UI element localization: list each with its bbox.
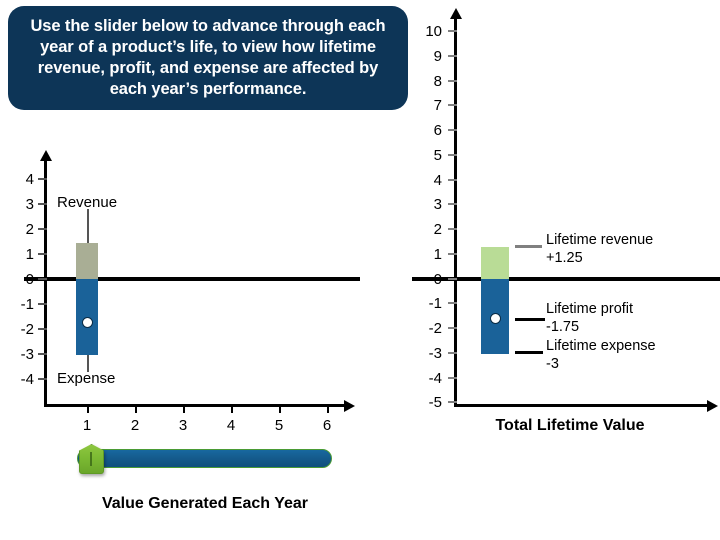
y-tick-right xyxy=(448,228,457,230)
y-tick-label-right: 7 xyxy=(408,98,442,113)
y-tick-label-left: -3 xyxy=(8,347,34,362)
lifetime-expense-leader-line xyxy=(515,351,543,354)
y-tick-label-right: 8 xyxy=(408,74,442,89)
y-tick-label-left: 1 xyxy=(8,247,34,262)
revenue-label-left: Revenue xyxy=(57,194,117,211)
y-tick-label-right: -4 xyxy=(408,371,442,386)
y-tick-right xyxy=(448,55,457,57)
x-tick-label-left: 5 xyxy=(265,418,293,433)
y-tick-right xyxy=(448,278,457,280)
left-chart-caption: Value Generated Each Year xyxy=(60,495,350,513)
y-tick-label-left: -1 xyxy=(8,297,34,312)
x-tick-label-left: 2 xyxy=(121,418,149,433)
y-tick-left xyxy=(38,278,47,280)
y-tick-left xyxy=(38,378,47,380)
lifetime-revenue-annotation-title: Lifetime revenue xyxy=(546,232,653,250)
x-tick-left xyxy=(87,404,89,413)
y-tick-right xyxy=(448,377,457,379)
y-tick-right xyxy=(448,401,457,403)
y-tick-left xyxy=(38,328,47,330)
year-slider[interactable] xyxy=(77,447,332,471)
y-tick-label-left: 2 xyxy=(8,222,34,237)
x-tick-label-left: 3 xyxy=(169,418,197,433)
y-tick-label-left: 0 xyxy=(8,272,34,287)
slider-track[interactable] xyxy=(77,449,332,468)
lifetime-revenue-bar xyxy=(481,247,509,279)
y-axis-right xyxy=(454,18,457,407)
x-tick-left xyxy=(231,404,233,413)
y-tick-label-right: 0 xyxy=(408,272,442,287)
y-tick-right xyxy=(448,104,457,106)
lifetime-expense-annotation-title: Lifetime expense xyxy=(546,338,656,356)
y-tick-label-right: 4 xyxy=(408,173,442,188)
x-tick-label-left: 1 xyxy=(73,418,101,433)
y-tick-left xyxy=(38,303,47,305)
y-tick-left xyxy=(38,203,47,205)
y-tick-label-right: 2 xyxy=(408,222,442,237)
y-tick-label-right: 10 xyxy=(408,24,442,39)
y-tick-left xyxy=(38,178,47,180)
x-axis-arrow-left xyxy=(344,400,355,412)
y-tick-right xyxy=(448,154,457,156)
lifetime-profit-annotation-title: Lifetime profit xyxy=(546,301,633,319)
x-tick-left xyxy=(327,404,329,413)
y-tick-label-right: -5 xyxy=(408,395,442,410)
x-axis-left xyxy=(44,404,344,407)
y-tick-right xyxy=(448,327,457,329)
revenue-bar-left xyxy=(76,243,98,279)
zero-line-left xyxy=(24,277,360,281)
zero-line-right xyxy=(412,277,720,281)
x-tick-label-left: 6 xyxy=(313,418,341,433)
lifetime-profit-marker xyxy=(490,313,501,324)
y-tick-label-right: 6 xyxy=(408,123,442,138)
y-tick-label-right: -2 xyxy=(408,321,442,336)
lifetime-revenue-annotation: Lifetime revenue +1.25 xyxy=(546,232,653,267)
lifetime-profit-annotation-value: -1.75 xyxy=(546,319,633,337)
total-lifetime-value-chart: 10 9 8 7 6 5 4 3 2 1 0 -1 -2 -3 -4 -5 Li… xyxy=(400,0,720,440)
y-tick-left xyxy=(38,228,47,230)
y-tick-right xyxy=(448,129,457,131)
y-tick-left xyxy=(38,353,47,355)
y-tick-label-right: -3 xyxy=(408,346,442,361)
lifetime-revenue-leader-line xyxy=(515,245,542,248)
y-tick-label-left: -2 xyxy=(8,322,34,337)
lifetime-profit-leader-line xyxy=(515,318,545,321)
y-tick-label-right: 9 xyxy=(408,49,442,64)
x-tick-label-left: 4 xyxy=(217,418,245,433)
y-axis-left xyxy=(44,160,47,406)
lifetime-expense-annotation-value: -3 xyxy=(546,356,656,374)
lifetime-profit-annotation: Lifetime profit -1.75 xyxy=(546,301,633,336)
y-tick-left xyxy=(38,253,47,255)
value-generated-each-year-chart: 4 3 2 1 0 -1 -2 -3 -4 1 2 3 4 5 6 Revenu… xyxy=(0,0,380,300)
lifetime-expense-annotation: Lifetime expense -3 xyxy=(546,338,656,373)
profit-marker-left xyxy=(82,317,93,328)
right-chart-caption: Total Lifetime Value xyxy=(450,417,690,435)
y-tick-right xyxy=(448,179,457,181)
x-axis-arrow-right xyxy=(707,400,718,412)
x-tick-left xyxy=(183,404,185,413)
lifetime-revenue-annotation-value: +1.25 xyxy=(546,250,653,268)
x-axis-right xyxy=(454,404,707,407)
y-tick-right xyxy=(448,30,457,32)
y-tick-right xyxy=(448,203,457,205)
expense-label-left: Expense xyxy=(57,370,115,387)
y-tick-label-right: -1 xyxy=(408,296,442,311)
revenue-leader-line-left xyxy=(87,209,89,243)
y-tick-right xyxy=(448,302,457,304)
y-tick-label-right: 1 xyxy=(408,247,442,262)
y-tick-label-left: 4 xyxy=(8,172,34,187)
slider-handle-grip-icon xyxy=(90,452,92,466)
y-tick-label-right: 5 xyxy=(408,148,442,163)
y-tick-right xyxy=(448,352,457,354)
x-tick-left xyxy=(135,404,137,413)
y-tick-right xyxy=(448,253,457,255)
y-tick-label-right: 3 xyxy=(408,197,442,212)
y-tick-label-left: 3 xyxy=(8,197,34,212)
slider-handle[interactable] xyxy=(79,444,104,474)
y-tick-right xyxy=(448,80,457,82)
y-tick-label-left: -4 xyxy=(8,372,34,387)
x-tick-left xyxy=(279,404,281,413)
